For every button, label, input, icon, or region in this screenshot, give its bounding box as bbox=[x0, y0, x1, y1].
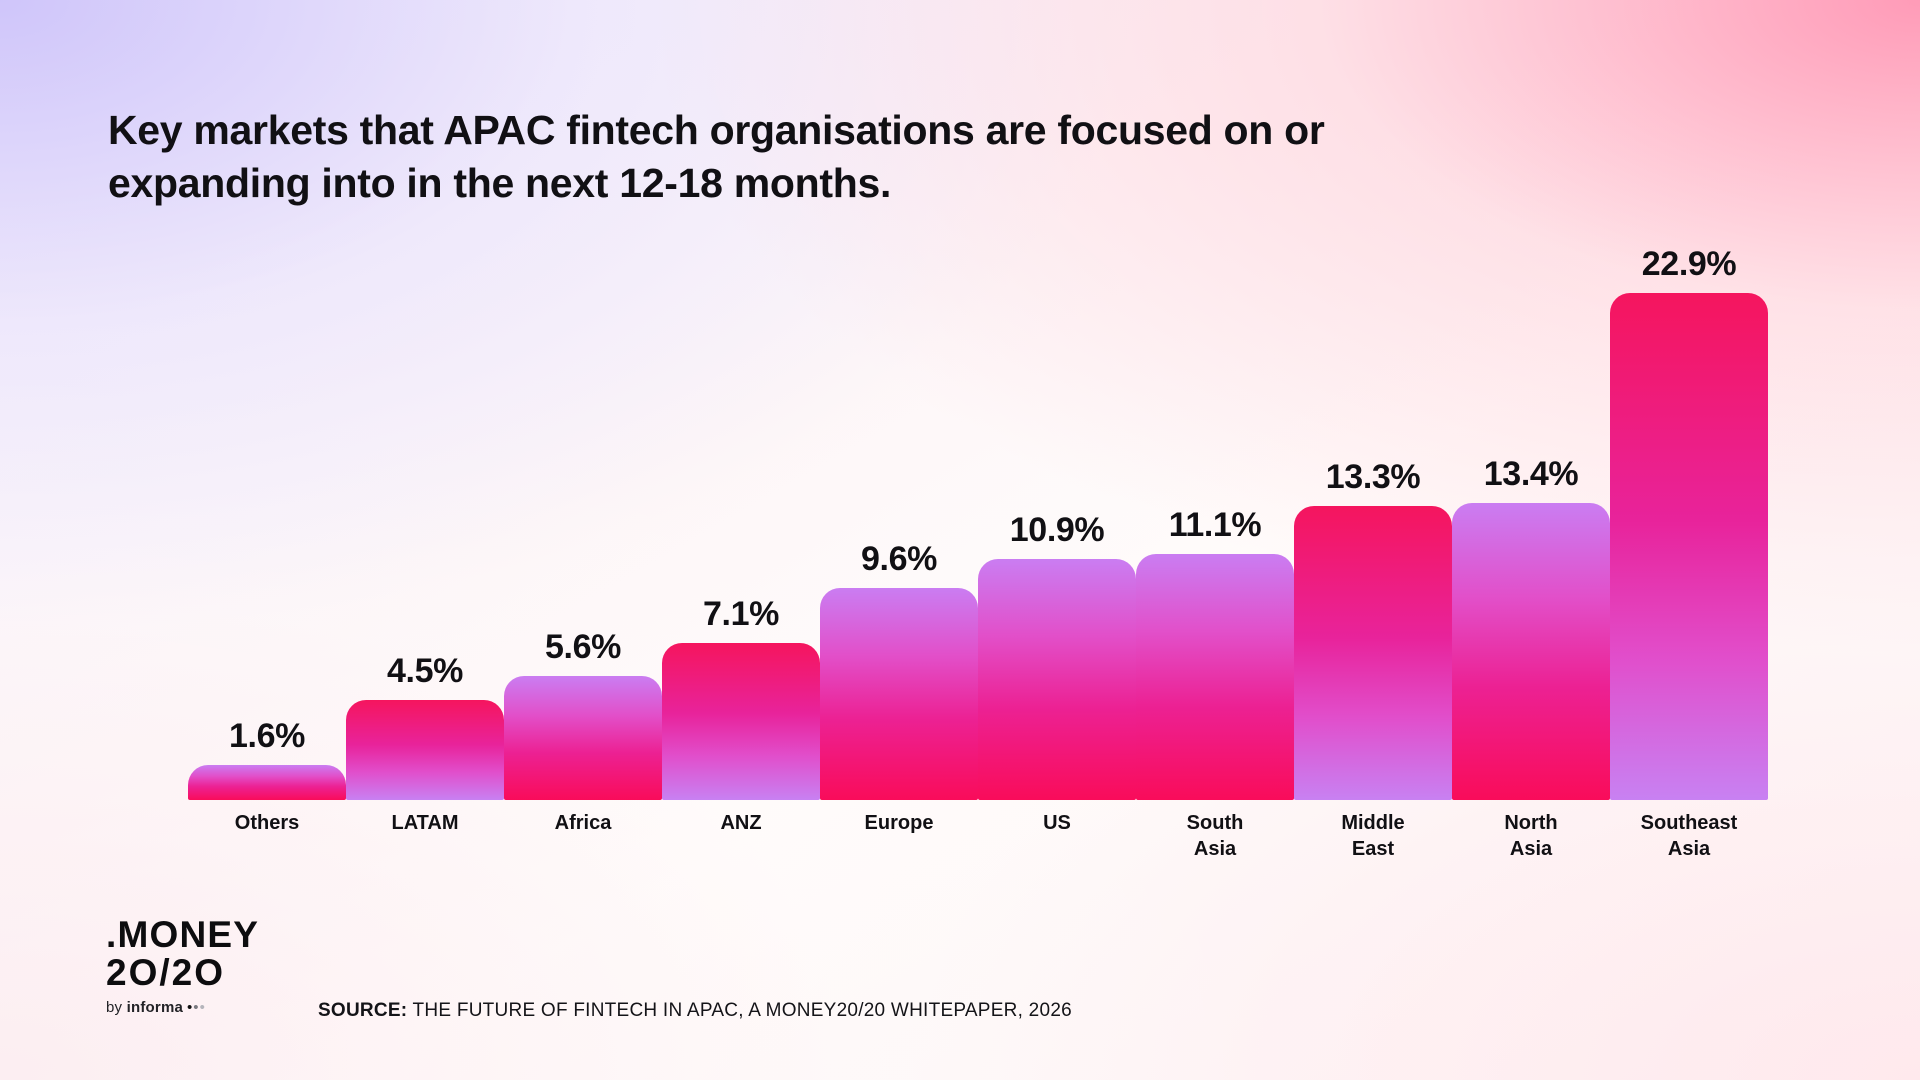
title-line-2: expanding into in the next 12-18 months. bbox=[108, 157, 1668, 210]
source-note: SOURCE: THE FUTURE OF FINTECH IN APAC, A… bbox=[318, 1000, 1072, 1022]
x-axis-label-line: Africa bbox=[504, 811, 662, 837]
logo-byline: by informa••• bbox=[106, 999, 306, 1016]
bar[interactable] bbox=[662, 643, 820, 800]
bar[interactable] bbox=[188, 765, 346, 800]
x-axis-label-line: LATAM bbox=[346, 811, 504, 837]
informa-dots-icon: ••• bbox=[187, 999, 206, 1016]
x-axis-label-europe: Europe bbox=[820, 800, 978, 862]
bar-value-label: 22.9% bbox=[1642, 245, 1736, 284]
x-axis-label-southeast-asia: SoutheastAsia bbox=[1610, 800, 1768, 862]
x-axis-labels: OthersLATAMAfricaANZEuropeUSSouthAsiaMid… bbox=[188, 800, 1838, 862]
logo-by-brand: informa bbox=[127, 999, 183, 1016]
source-text: THE FUTURE OF FINTECH IN APAC, A MONEY20… bbox=[407, 1000, 1072, 1021]
x-axis-label-north-asia: NorthAsia bbox=[1452, 800, 1610, 862]
x-axis-label-south-asia: SouthAsia bbox=[1136, 800, 1294, 862]
title-line-1: Key markets that APAC fintech organisati… bbox=[108, 104, 1668, 157]
bar[interactable] bbox=[504, 676, 662, 800]
bar-value-label: 5.6% bbox=[545, 628, 621, 667]
x-axis-label-line: Asia bbox=[1610, 837, 1768, 863]
x-axis-label-middle-east: MiddleEast bbox=[1294, 800, 1452, 862]
x-axis-label-latam: LATAM bbox=[346, 800, 504, 862]
logo-line-2: 2O/2O bbox=[106, 954, 306, 992]
x-axis-label-africa: Africa bbox=[504, 800, 662, 862]
x-axis-label-line: South bbox=[1136, 811, 1294, 837]
x-axis-label-others: Others bbox=[188, 800, 346, 862]
bar[interactable] bbox=[1136, 554, 1294, 800]
x-axis-label-line: Europe bbox=[820, 811, 978, 837]
bar-group-north-asia[interactable]: 13.4% bbox=[1452, 245, 1610, 800]
money2020-logo: .MONEY 2O/2O by informa••• bbox=[106, 916, 306, 1016]
x-axis-label-line: Asia bbox=[1452, 837, 1610, 863]
bar-group-anz[interactable]: 7.1% bbox=[662, 245, 820, 800]
bar[interactable] bbox=[1294, 506, 1452, 801]
bar-chart: 1.6%4.5%5.6%7.1%9.6%10.9%11.1%13.3%13.4%… bbox=[108, 245, 1838, 800]
source-label: SOURCE: bbox=[318, 1000, 407, 1021]
x-axis-label-line: North bbox=[1452, 811, 1610, 837]
bar-value-label: 4.5% bbox=[387, 652, 463, 691]
bar-value-label: 9.6% bbox=[861, 540, 937, 579]
bar-value-label: 1.6% bbox=[229, 717, 305, 756]
x-axis-label-line: Asia bbox=[1136, 837, 1294, 863]
bar-group-south-asia[interactable]: 11.1% bbox=[1136, 245, 1294, 800]
bar[interactable] bbox=[1610, 293, 1768, 800]
x-axis-label-line: Others bbox=[188, 811, 346, 837]
bar-group-latam[interactable]: 4.5% bbox=[346, 245, 504, 800]
bar-group-africa[interactable]: 5.6% bbox=[504, 245, 662, 800]
bar-group-europe[interactable]: 9.6% bbox=[820, 245, 978, 800]
bar-value-label: 11.1% bbox=[1169, 506, 1262, 545]
bar[interactable] bbox=[1452, 503, 1610, 800]
bar[interactable] bbox=[346, 700, 504, 800]
bar-group-southeast-asia[interactable]: 22.9% bbox=[1610, 245, 1768, 800]
page-title: Key markets that APAC fintech organisati… bbox=[108, 104, 1668, 211]
x-axis-label-line: Middle bbox=[1294, 811, 1452, 837]
bar-value-label: 13.4% bbox=[1484, 455, 1578, 494]
x-axis-label-anz: ANZ bbox=[662, 800, 820, 862]
x-axis-label-line: ANZ bbox=[662, 811, 820, 837]
bar-value-label: 7.1% bbox=[703, 595, 779, 634]
logo-by-prefix: by bbox=[106, 999, 127, 1016]
bar-value-label: 13.3% bbox=[1326, 458, 1420, 497]
bar-group-us[interactable]: 10.9% bbox=[978, 245, 1136, 800]
x-axis-label-line: East bbox=[1294, 837, 1452, 863]
bar-group-others[interactable]: 1.6% bbox=[188, 245, 346, 800]
x-axis-label-us: US bbox=[978, 800, 1136, 862]
bar-group-middle-east[interactable]: 13.3% bbox=[1294, 245, 1452, 800]
logo-line-1: .MONEY bbox=[106, 916, 306, 954]
bar[interactable] bbox=[820, 588, 978, 801]
x-axis-label-line: Southeast bbox=[1610, 811, 1768, 837]
chart-plot-area: 1.6%4.5%5.6%7.1%9.6%10.9%11.1%13.3%13.4%… bbox=[188, 245, 1838, 800]
bar-value-label: 10.9% bbox=[1010, 511, 1104, 550]
bar[interactable] bbox=[978, 559, 1136, 800]
x-axis-label-line: US bbox=[978, 811, 1136, 837]
